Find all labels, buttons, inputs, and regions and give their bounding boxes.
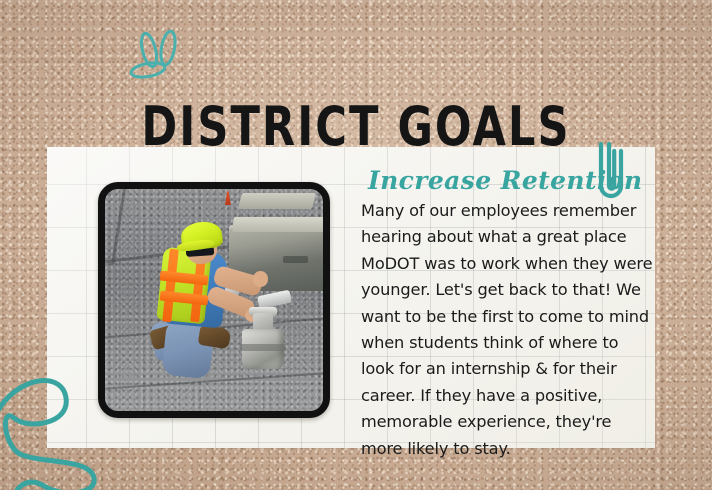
- worker-photo: [105, 189, 323, 411]
- photo-equipment-ring: [240, 344, 286, 351]
- section-heading: Increase Retention: [368, 166, 618, 196]
- petals-doodle-icon: [126, 28, 192, 84]
- photo-worker-hand: [253, 271, 268, 287]
- paperclip-icon: [588, 142, 634, 208]
- photo-frame: [98, 182, 330, 418]
- photo-concrete-slab: [238, 193, 316, 209]
- section-body-text: Many of our employees remember hearing a…: [361, 198, 653, 462]
- slide-canvas: DISTRICT GOALS: [0, 0, 712, 490]
- loops-doodle-icon: [0, 362, 104, 490]
